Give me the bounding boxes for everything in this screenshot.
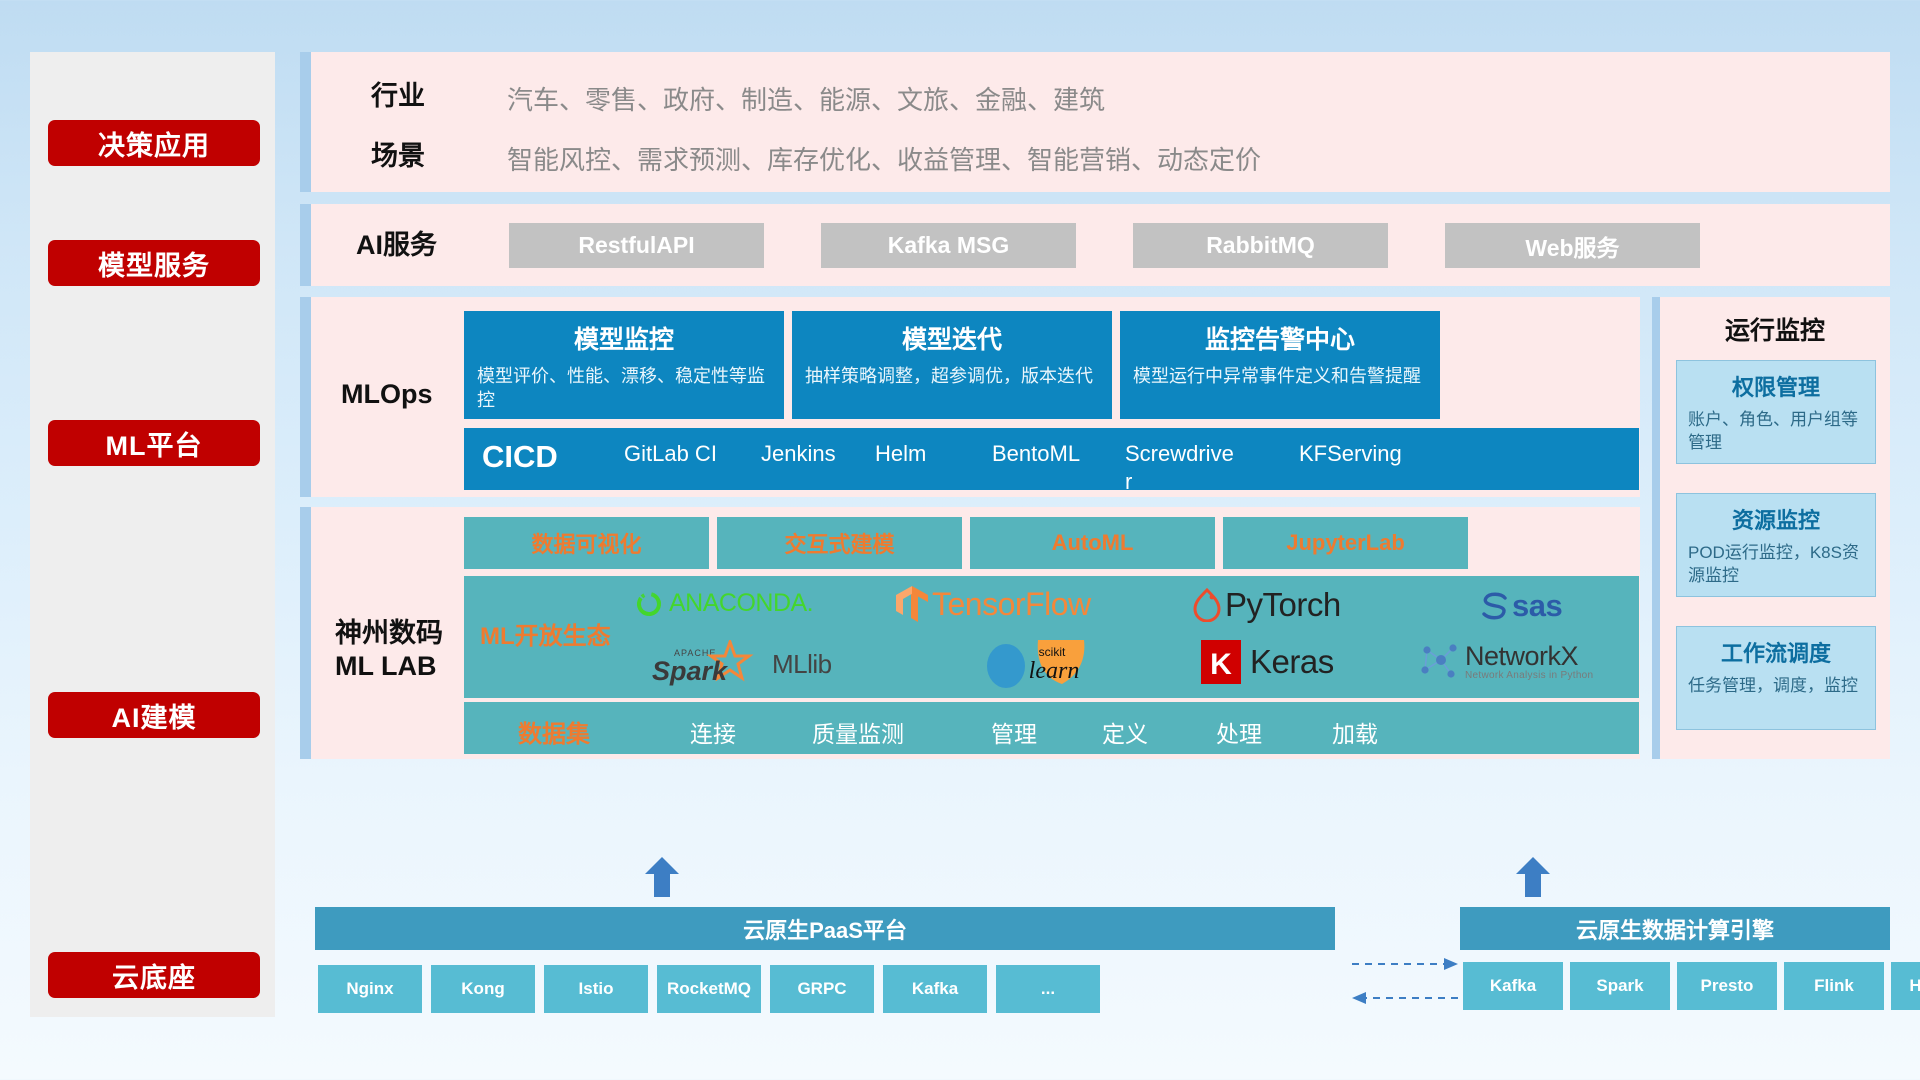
cloud-chip-spark[interactable]: Spark — [1570, 962, 1670, 1010]
cicd-item-gitlab-ci[interactable]: GitLab CI — [624, 440, 734, 468]
card-desc: 任务管理，调度，监控 — [1677, 675, 1875, 708]
sas-icon — [1479, 591, 1511, 621]
scikit-learn-icon: scikit learn — [984, 636, 1124, 692]
anaconda-icon — [634, 588, 664, 618]
tool-chip-jupyterlab[interactable]: JupyterLab — [1223, 517, 1468, 569]
cicd-item-screwdriver[interactable]: Screwdriver — [1125, 440, 1235, 495]
cloud-chip-more[interactable]: ... — [996, 965, 1100, 1013]
industry-label: 行业 — [371, 76, 425, 116]
networkx-logo-text: NetworkX — [1465, 643, 1593, 670]
service-chip-rabbitmq[interactable]: RabbitMQ — [1133, 223, 1388, 268]
monitor-column: 运行监控 权限管理 账户、角色、用户组等管理 资源监控 POD运行监控，K8S资… — [1652, 297, 1890, 759]
stage-chip-model-serving[interactable]: 模型服务 — [48, 240, 260, 286]
up-arrow-left-icon — [645, 857, 679, 897]
pytorch-icon — [1192, 588, 1222, 622]
cloud-chip-kafka[interactable]: Kafka — [883, 965, 987, 1013]
sas-logo: sas — [1479, 588, 1562, 624]
sas-logo-text: sas — [1512, 588, 1562, 624]
card-desc: POD运行监控，K8S资源监控 — [1677, 542, 1875, 598]
service-chip-web[interactable]: Web服务 — [1445, 223, 1700, 268]
cloud-chip-istio[interactable]: Istio — [544, 965, 648, 1013]
cloud-chip-flink[interactable]: Flink — [1784, 962, 1884, 1010]
keras-logo-text: Keras — [1250, 643, 1334, 681]
card-title: 权限管理 — [1677, 370, 1875, 402]
bidirectional-link-icon — [1350, 952, 1460, 1012]
card-title: 模型监控 — [477, 320, 771, 356]
networkx-logo: NetworkX Network Analysis in Python — [1419, 640, 1593, 684]
mlops-card-model-iteration[interactable]: 模型迭代 抽样策略调整，超参调优，版本迭代 — [792, 311, 1112, 419]
scenario-value: 智能风控、需求预测、库存优化、收益管理、智能营销、动态定价 — [507, 140, 1261, 177]
cloud-chip-kafka-right[interactable]: Kafka — [1463, 962, 1563, 1010]
networkx-icon — [1419, 640, 1461, 684]
tensorflow-icon — [894, 584, 930, 624]
monitor-card-workflow[interactable]: 工作流调度 任务管理，调度，监控 — [1676, 626, 1876, 730]
svg-text:Spark: Spark — [652, 656, 729, 686]
card-desc: 模型评价、性能、漂移、稳定性等监控 — [477, 364, 771, 413]
tool-chip-automl[interactable]: AutoML — [970, 517, 1215, 569]
mlops-card-model-monitoring[interactable]: 模型监控 模型评价、性能、漂移、稳定性等监控 — [464, 311, 784, 419]
scikit-learn-logo: scikit learn — [984, 636, 1124, 692]
dataset-item-connect[interactable]: 连接 — [690, 715, 736, 749]
card-title: 资源监控 — [1677, 503, 1875, 535]
keras-icon: K — [1199, 638, 1243, 686]
cloud-chip-hadoop[interactable]: Hadoop — [1891, 962, 1920, 1010]
card-desc: 抽样策略调整，超参调优，版本迭代 — [805, 364, 1099, 388]
cicd-item-jenkins[interactable]: Jenkins — [761, 440, 871, 468]
monitor-card-permission[interactable]: 权限管理 账户、角色、用户组等管理 — [1676, 360, 1876, 464]
svg-text:learn: learn — [1029, 658, 1080, 684]
cicd-bar: CICD GitLab CI Jenkins Helm BentoML Scre… — [464, 428, 1639, 490]
dataset-item-process[interactable]: 处理 — [1216, 715, 1262, 749]
spark-icon: APACHE Spark — [652, 640, 768, 688]
monitor-card-resource[interactable]: 资源监控 POD运行监控，K8S资源监控 — [1676, 493, 1876, 597]
tool-chip-interactive-modeling[interactable]: 交互式建模 — [717, 517, 962, 569]
ai-service-band: AI服务 RestfulAPI Kafka MSG RabbitMQ Web服务 — [300, 204, 1890, 286]
dataset-title: 数据集 — [518, 714, 590, 749]
spark-mllib-logo: APACHE Spark MLlib — [652, 640, 832, 688]
ml-lab-label-line2: ML LAB — [335, 650, 443, 683]
service-chip-kafka-msg[interactable]: Kafka MSG — [821, 223, 1076, 268]
card-title: 模型迭代 — [805, 320, 1099, 356]
dataset-item-quality[interactable]: 质量监测 — [812, 715, 904, 749]
anaconda-logo: ANACONDA. — [634, 588, 813, 618]
stage-chip-cloud-base[interactable]: 云底座 — [48, 952, 260, 998]
cloud-chip-nginx[interactable]: Nginx — [318, 965, 422, 1013]
cicd-title: CICD — [482, 439, 558, 475]
cicd-item-kfserving[interactable]: KFServing — [1299, 440, 1409, 468]
cloud-chip-presto[interactable]: Presto — [1677, 962, 1777, 1010]
stage-chip-ml-platform[interactable]: ML平台 — [48, 420, 260, 466]
mllib-logo-text: MLlib — [772, 649, 832, 680]
cloud-header-data-engine: 云原生数据计算引擎 — [1460, 907, 1890, 950]
tool-chip-data-visualization[interactable]: 数据可视化 — [464, 517, 709, 569]
cicd-item-bentoml[interactable]: BentoML — [992, 440, 1102, 468]
mlops-band: MLOps 模型监控 模型评价、性能、漂移、稳定性等监控 模型迭代 抽样策略调整… — [300, 297, 1640, 497]
svg-text:scikit: scikit — [1039, 645, 1066, 659]
svg-text:K: K — [1210, 648, 1232, 681]
up-arrow-right-icon — [1516, 857, 1550, 897]
keras-logo: K Keras — [1199, 638, 1334, 686]
tensorflow-logo: TensorFlow — [894, 584, 1091, 624]
monitor-column-title: 运行监控 — [1660, 311, 1890, 347]
ai-modeling-band: 神州数码 ML LAB 数据可视化 交互式建模 AutoML JupyterLa… — [300, 507, 1640, 759]
card-desc: 账户、角色、用户组等管理 — [1677, 409, 1875, 465]
stage-chip-decision[interactable]: 决策应用 — [48, 120, 260, 166]
card-title: 工作流调度 — [1677, 636, 1875, 668]
application-band: 行业 汽车、零售、政府、制造、能源、文旅、金融、建筑 场景 智能风控、需求预测、… — [300, 52, 1890, 192]
cloud-chip-rocketmq[interactable]: RocketMQ — [657, 965, 761, 1013]
dataset-item-load[interactable]: 加载 — [1332, 715, 1378, 749]
ml-ecosystem-box: ML开放生态 ANACONDA. TensorFlow — [464, 576, 1639, 698]
ai-service-label: AI服务 — [356, 223, 437, 268]
dataset-item-define[interactable]: 定义 — [1102, 715, 1148, 749]
stage-chip-ai-modeling[interactable]: AI建模 — [48, 692, 260, 738]
service-chip-restfulapi[interactable]: RestfulAPI — [509, 223, 764, 268]
card-desc: 模型运行中异常事件定义和告警提醒 — [1133, 364, 1427, 388]
anaconda-logo-text: ANACONDA. — [669, 589, 813, 618]
cloud-chip-kong[interactable]: Kong — [431, 965, 535, 1013]
ml-ecosystem-label: ML开放生态 — [480, 616, 611, 651]
cicd-item-helm[interactable]: Helm — [875, 440, 985, 468]
pytorch-logo: PyTorch — [1192, 586, 1341, 624]
cloud-chip-grpc[interactable]: GRPC — [770, 965, 874, 1013]
pytorch-logo-text: PyTorch — [1225, 586, 1341, 624]
card-title: 监控告警中心 — [1133, 320, 1427, 356]
ml-lab-label-line1: 神州数码 — [335, 617, 443, 650]
cloud-header-paas: 云原生PaaS平台 — [315, 907, 1335, 950]
stage-column: 决策应用 模型服务 ML平台 AI建模 云底座 — [30, 52, 275, 1017]
networkx-logo-tagline: Network Analysis in Python — [1465, 670, 1593, 681]
scenario-label: 场景 — [371, 136, 425, 176]
industry-value: 汽车、零售、政府、制造、能源、文旅、金融、建筑 — [507, 80, 1105, 117]
dataset-item-manage[interactable]: 管理 — [991, 715, 1037, 749]
ml-lab-label: 神州数码 ML LAB — [335, 617, 443, 657]
tensorflow-logo-text: TensorFlow — [932, 586, 1091, 623]
dataset-bar: 数据集 连接 质量监测 管理 定义 处理 加载 — [464, 702, 1639, 754]
mlops-card-alert-center[interactable]: 监控告警中心 模型运行中异常事件定义和告警提醒 — [1120, 311, 1440, 419]
architecture-board: 行业 汽车、零售、政府、制造、能源、文旅、金融、建筑 场景 智能风控、需求预测、… — [300, 52, 1890, 1017]
mlops-label: MLOps — [341, 372, 433, 417]
